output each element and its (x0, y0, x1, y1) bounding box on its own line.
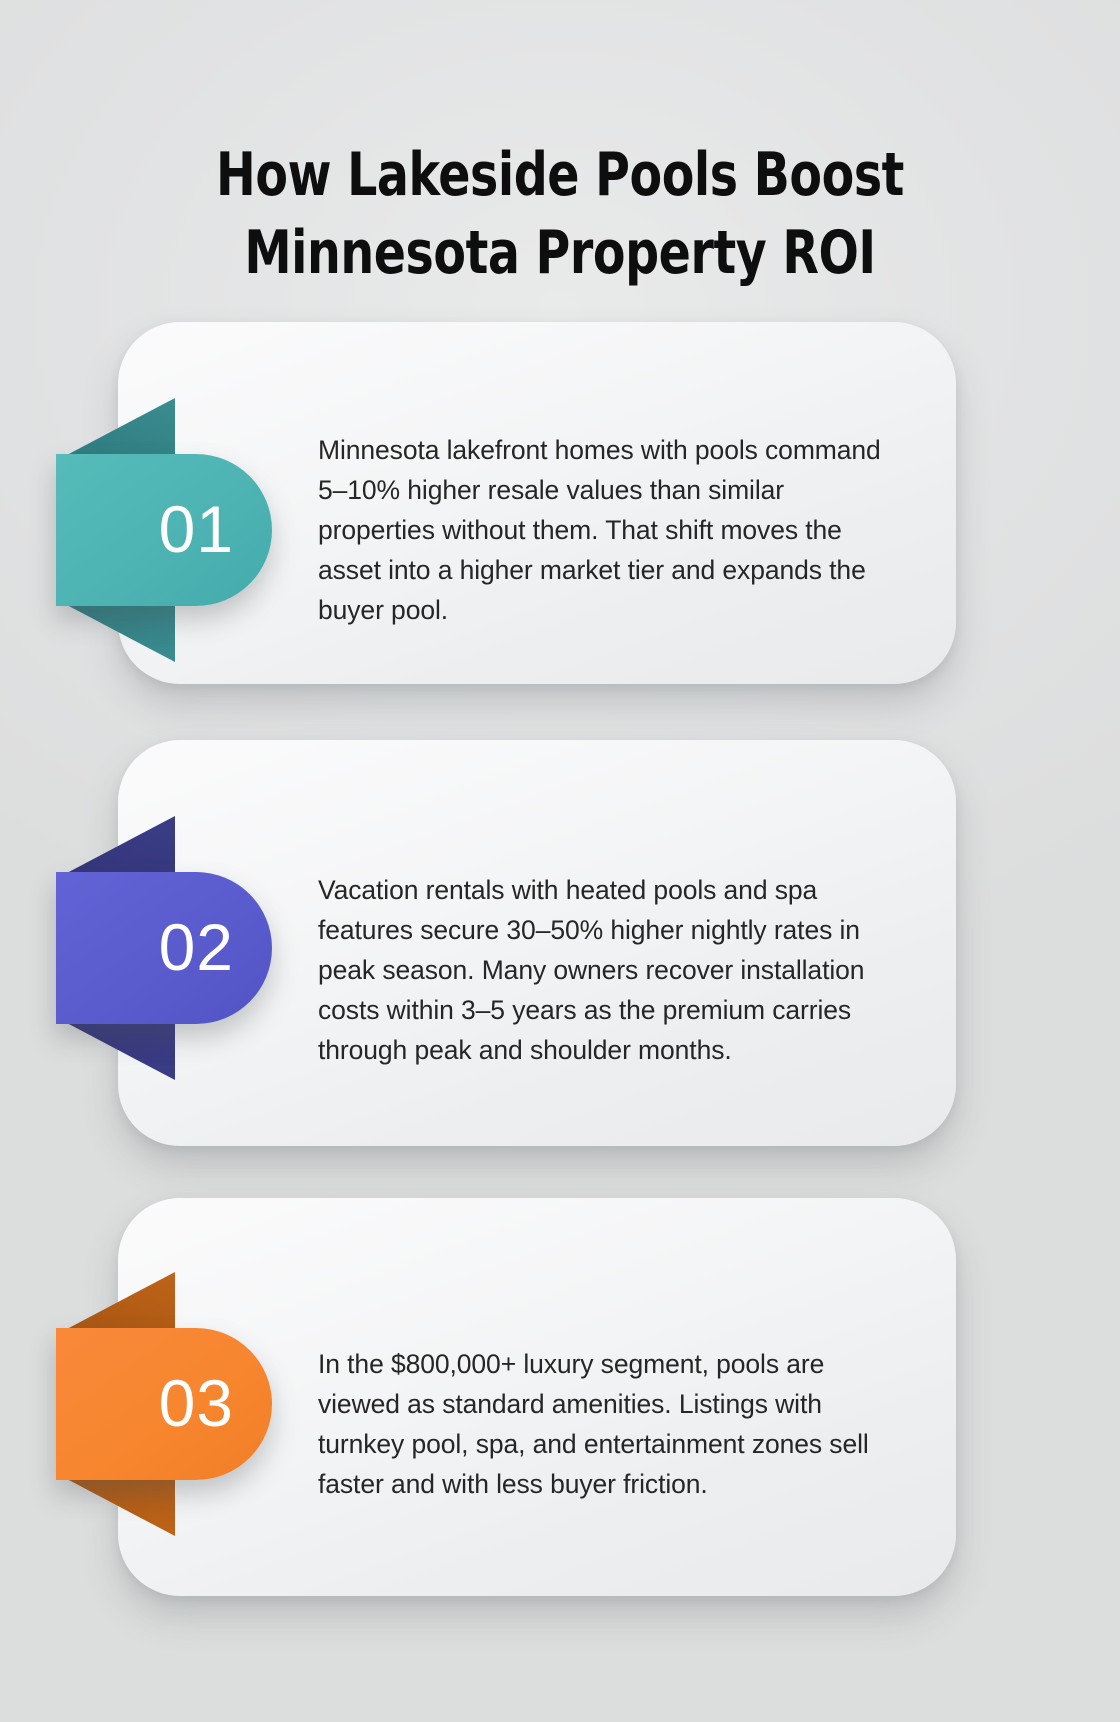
step-badge-1: 01 (56, 398, 272, 662)
info-card-3-body: In the $800,000+ luxury segment, pools a… (318, 1344, 904, 1504)
step-badge-2-body: 02 (56, 872, 272, 1024)
ribbon-fold-top-icon (65, 1272, 175, 1330)
ribbon-fold-bottom-icon (65, 604, 175, 662)
page-title-line-1: How Lakeside Pools Boost (67, 136, 1053, 214)
step-badge-3-body: 03 (56, 1328, 272, 1480)
page-title-line-2: Minnesota Property ROI (67, 214, 1053, 292)
info-card-1-body: Minnesota lakefront homes with pools com… (318, 430, 904, 630)
ribbon-fold-bottom-icon (65, 1022, 175, 1080)
step-badge-1-body: 01 (56, 454, 272, 606)
step-badge-2: 02 (56, 816, 272, 1080)
ribbon-fold-bottom-icon (65, 1478, 175, 1536)
ribbon-fold-top-icon (65, 816, 175, 874)
infographic-canvas: How Lakeside Pools Boost Minnesota Prope… (0, 0, 1120, 1722)
step-badge-2-number: 02 (159, 914, 234, 980)
step-badge-1-number: 01 (159, 496, 234, 562)
step-badge-3: 03 (56, 1272, 272, 1536)
info-card-2-body: Vacation rentals with heated pools and s… (318, 870, 904, 1070)
step-badge-3-number: 03 (159, 1370, 234, 1436)
page-title: How Lakeside Pools Boost Minnesota Prope… (67, 136, 1053, 292)
ribbon-fold-top-icon (65, 398, 175, 456)
